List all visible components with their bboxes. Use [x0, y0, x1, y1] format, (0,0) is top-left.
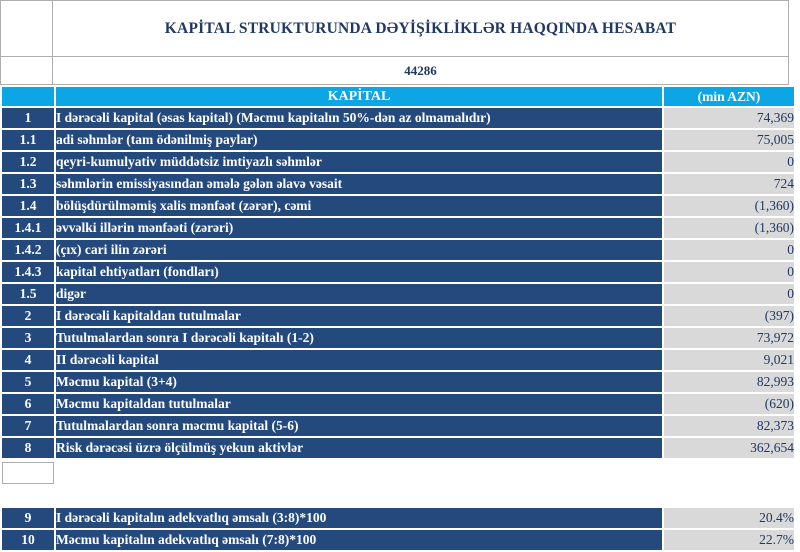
- ratio-row: 10Məcmu kapitalın adekvatlıq əmsalı (7:8…: [2, 530, 794, 550]
- spacer-box-cell: [2, 462, 54, 484]
- column-header-label: KAPİTAL: [56, 87, 662, 106]
- report-period: 44286: [53, 57, 789, 85]
- period-row: 44286: [1, 57, 789, 85]
- table-row-label: Məcmu kapitaldan tutulmalar: [56, 394, 662, 414]
- table-row: 1.4bölüşdürülməmiş xalis mənfəət (zərər)…: [2, 196, 794, 216]
- report-title: KAPİTAL STRUKTURUNDA DƏYİŞİKLİKLƏR HAQQI…: [53, 1, 789, 57]
- table-row: 2I dərəcəli kapitaldan tutulmalar(397): [2, 306, 794, 326]
- table-row-value: 9,021: [664, 350, 794, 370]
- table-row-label: II dərəcəli kapital: [56, 350, 662, 370]
- table-row-value: 0: [664, 152, 794, 172]
- table-row: 1.5digər0: [2, 284, 794, 304]
- table-row-label: əvvəlki illərin mənfəəti (zərəri): [56, 218, 662, 238]
- table-row: 4II dərəcəli kapital9,021: [2, 350, 794, 370]
- table-row-label: bölüşdürülməmiş xalis mənfəət (zərər), c…: [56, 196, 662, 216]
- table-row-value: 0: [664, 240, 794, 260]
- table-row-label: I dərəcəli kapital (əsas kapital) (Məcmu…: [56, 108, 662, 128]
- table-row-value: (397): [664, 306, 794, 326]
- table-row-label: Məcmu kapital (3+4): [56, 372, 662, 392]
- table-row-label: (çıx) cari ilin zərəri: [56, 240, 662, 260]
- table-row: 1.2qeyri-kumulyativ müddətsiz imtiyazlı …: [2, 152, 794, 172]
- table-row-value: 362,654: [664, 438, 794, 458]
- table-row: 7Tutulmalardan sonra məcmu kapital (5-6)…: [2, 416, 794, 436]
- ratio-row: 9I dərəcəli kapitalın adekvatlıq əmsalı …: [2, 508, 794, 528]
- table-row-value: (620): [664, 394, 794, 414]
- ratio-row-label: I dərəcəli kapitalın adekvatlıq əmsalı (…: [56, 508, 662, 528]
- report-header-table: KAPİTAL STRUKTURUNDA DƏYİŞİKLİKLƏR HAQQI…: [0, 0, 789, 85]
- capital-structure-report: KAPİTAL STRUKTURUNDA DƏYİŞİKLİKLƏR HAQQI…: [0, 0, 800, 552]
- table-row-number: 1.1: [2, 130, 54, 150]
- table-row-number: 1.4.3: [2, 262, 54, 282]
- table-row-value: 82,993: [664, 372, 794, 392]
- period-row-spacer-cell: [1, 57, 53, 85]
- ratio-row-value: 20.4%: [664, 508, 794, 528]
- table-row-number: 6: [2, 394, 54, 414]
- table-row-label: adi səhmlər (tam ödənilmiş paylar): [56, 130, 662, 150]
- table-row: 3Tutulmalardan sonra I dərəcəli kapitalı…: [2, 328, 794, 348]
- table-row-number: 7: [2, 416, 54, 436]
- table-row-number: 1.5: [2, 284, 54, 304]
- table-row-number: 3: [2, 328, 54, 348]
- ratio-row-value: 22.7%: [664, 530, 794, 550]
- fakt-header: Fakt: [664, 486, 794, 506]
- fakt-header-row: Fakt: [2, 486, 794, 506]
- table-row: 1I dərəcəli kapital (əsas kapital) (Məcm…: [2, 108, 794, 128]
- title-row: KAPİTAL STRUKTURUNDA DƏYİŞİKLİKLƏR HAQQI…: [1, 1, 789, 57]
- table-row: 1.1adi səhmlər (tam ödənilmiş paylar)75,…: [2, 130, 794, 150]
- table-row-number: 1.4: [2, 196, 54, 216]
- capital-table: KAPİTAL (min AZN) 1I dərəcəli kapital (ə…: [0, 85, 796, 460]
- ratio-row-number: 10: [2, 530, 54, 550]
- table-row-value: (1,360): [664, 196, 794, 216]
- spacer-value-cell: [664, 462, 794, 484]
- title-row-spacer-cell: [1, 1, 53, 57]
- table-row-number: 4: [2, 350, 54, 370]
- column-header-value: (min AZN): [664, 87, 794, 106]
- table-row-label: Tutulmalardan sonra məcmu kapital (5-6): [56, 416, 662, 436]
- table-row-label: Tutulmalardan sonra I dərəcəli kapitalı …: [56, 328, 662, 348]
- table-row: 1.3səhmlərin emissiyasından əmələ gələn …: [2, 174, 794, 194]
- column-header-row: KAPİTAL (min AZN): [2, 87, 794, 106]
- table-row-value: 75,005: [664, 130, 794, 150]
- fakt-label-cell: [56, 486, 662, 506]
- table-row-value: 0: [664, 284, 794, 304]
- table-row-number: 1.4.1: [2, 218, 54, 238]
- table-row-number: 5: [2, 372, 54, 392]
- table-row: 6Məcmu kapitaldan tutulmalar(620): [2, 394, 794, 414]
- table-row: 1.4.2(çıx) cari ilin zərəri0: [2, 240, 794, 260]
- table-row-label: kapital ehtiyatları (fondları): [56, 262, 662, 282]
- table-row-value: 724: [664, 174, 794, 194]
- table-row: 8Risk dərəcəsi üzrə ölçülmüş yekun aktiv…: [2, 438, 794, 458]
- table-row-label: digər: [56, 284, 662, 304]
- table-row-value: 0: [664, 262, 794, 282]
- table-row-number: 1: [2, 108, 54, 128]
- table-row-label: qeyri-kumulyativ müddətsiz imtiyazlı səh…: [56, 152, 662, 172]
- column-header-number: [2, 87, 54, 106]
- table-row-value: 82,373: [664, 416, 794, 436]
- spacer-row: [2, 462, 794, 484]
- table-row-value: 74,369: [664, 108, 794, 128]
- table-row-number: 1.3: [2, 174, 54, 194]
- fakt-number-cell: [2, 486, 54, 506]
- table-row: 1.4.1əvvəlki illərin mənfəəti (zərəri)(1…: [2, 218, 794, 238]
- table-row-number: 1.4.2: [2, 240, 54, 260]
- table-row-label: səhmlərin emissiyasından əmələ gələn əla…: [56, 174, 662, 194]
- table-row-label: Risk dərəcəsi üzrə ölçülmüş yekun aktivl…: [56, 438, 662, 458]
- table-row-number: 8: [2, 438, 54, 458]
- table-row-number: 2: [2, 306, 54, 326]
- table-row: 1.4.3kapital ehtiyatları (fondları)0: [2, 262, 794, 282]
- table-row: 5Məcmu kapital (3+4)82,993: [2, 372, 794, 392]
- ratio-row-label: Məcmu kapitalın adekvatlıq əmsalı (7:8)*…: [56, 530, 662, 550]
- table-row-number: 1.2: [2, 152, 54, 172]
- ratio-table: Fakt 9I dərəcəli kapitalın adekvatlıq əm…: [0, 460, 796, 552]
- spacer-label-cell: [56, 462, 662, 484]
- table-row-value: (1,360): [664, 218, 794, 238]
- table-row-value: 73,972: [664, 328, 794, 348]
- ratio-row-number: 9: [2, 508, 54, 528]
- table-row-label: I dərəcəli kapitaldan tutulmalar: [56, 306, 662, 326]
